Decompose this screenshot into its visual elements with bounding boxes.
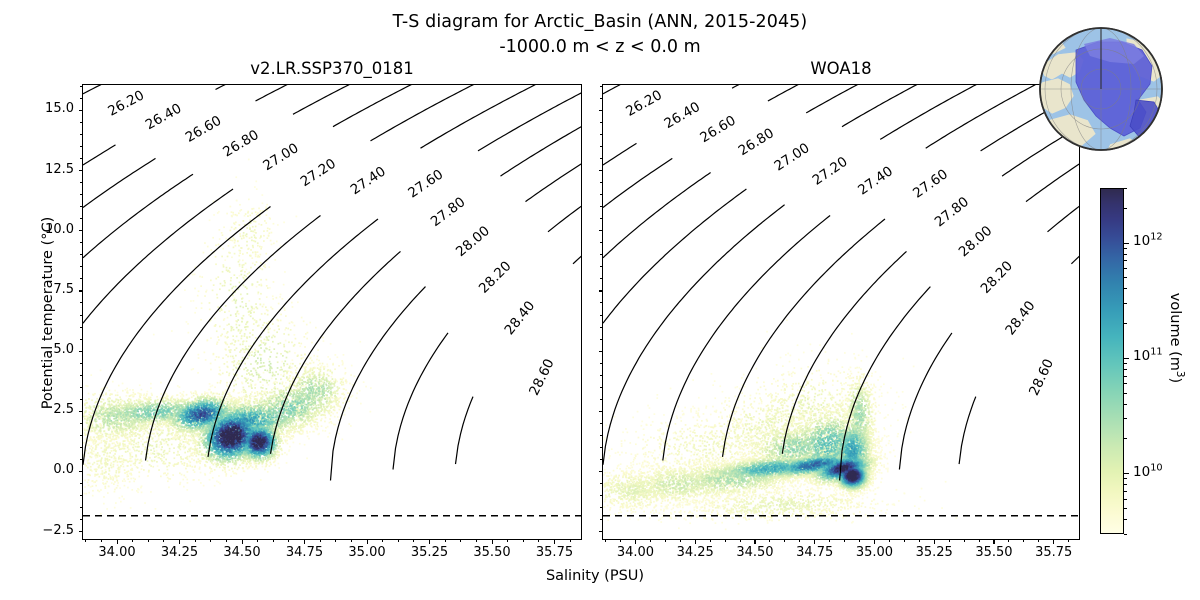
density-contour-line: [899, 205, 1080, 470]
y-tick-mark-minor: [80, 98, 82, 99]
scatter-point-group: [603, 319, 957, 530]
y-tick-mark-minor: [600, 315, 602, 316]
y-tick-mark-minor: [80, 507, 82, 508]
axes-observations: 26.2026.4026.6026.8027.0027.2027.4027.60…: [602, 84, 1080, 540]
density-contour-label: 27.80: [932, 194, 972, 230]
y-tick-mark: [79, 290, 83, 291]
x-tick-label: 34.25: [150, 545, 210, 560]
colorbar-tick-mark-minor: [1124, 268, 1127, 269]
x-tick-mark-minor: [1038, 540, 1039, 542]
x-tick-label: 34.75: [275, 545, 335, 560]
y-tick-mark-minor: [600, 507, 602, 508]
x-tick-mark-minor: [665, 540, 666, 542]
y-tick-mark-minor: [600, 254, 602, 255]
colorbar-tick-mark-minor: [1124, 248, 1127, 249]
y-tick-mark-minor: [80, 266, 82, 267]
scatter-plot-model: 26.2026.4026.6026.8027.0027.2027.4027.60…: [83, 85, 582, 540]
density-contour-label: 28.60: [526, 356, 557, 398]
colorbar-tick-mark-minor: [1124, 383, 1127, 384]
x-tick-mark-minor: [979, 540, 980, 542]
y-tick-mark-minor: [80, 399, 82, 400]
x-tick-mark-minor: [492, 540, 493, 542]
density-contour-label: 28.40: [1002, 298, 1038, 338]
y-tick-mark-minor: [600, 146, 602, 147]
x-tick-mark-minor: [554, 540, 555, 542]
x-tick-mark-minor: [605, 540, 606, 542]
density-contour-label-group: 26.2026.4026.6026.8027.0027.2027.4027.60…: [105, 87, 557, 398]
x-tick-mark-minor: [919, 540, 920, 542]
y-tick-mark: [79, 531, 83, 532]
y-tick-mark-minor: [80, 86, 82, 87]
y-tick-mark-minor: [80, 278, 82, 279]
y-tick-label: −2.5: [28, 523, 74, 538]
y-tick-mark: [79, 110, 83, 111]
y-tick-label: 15.0: [28, 101, 74, 116]
y-tick-mark-minor: [80, 435, 82, 436]
scatter-plot-observations: 26.2026.4026.6026.8027.0027.2027.4027.60…: [603, 85, 1080, 540]
colorbar-tick-mark-minor: [1124, 260, 1127, 261]
y-tick-mark: [599, 411, 603, 412]
x-tick-mark-minor: [650, 540, 651, 542]
y-tick-mark-minor: [80, 254, 82, 255]
y-tick-mark: [79, 411, 83, 412]
y-tick-mark: [79, 230, 83, 231]
x-tick-mark-minor: [799, 540, 800, 542]
y-tick-mark-minor: [600, 339, 602, 340]
y-tick-mark: [79, 170, 83, 171]
x-tick-mark-minor: [132, 540, 133, 542]
density-contour-label: 28.60: [1026, 356, 1057, 398]
x-tick-mark-minor: [1023, 540, 1024, 542]
colorbar-tick-mark-minor: [1124, 491, 1127, 492]
y-tick-mark-minor: [80, 134, 82, 135]
density-contour-label: 28.20: [978, 258, 1016, 297]
y-tick-mark-minor: [80, 302, 82, 303]
x-tick-mark-minor: [635, 540, 636, 542]
x-tick-label: 35.25: [904, 545, 964, 560]
y-tick-mark-minor: [600, 182, 602, 183]
y-tick-mark-minor: [80, 363, 82, 364]
y-tick-mark-minor: [80, 194, 82, 195]
y-tick-mark-minor: [600, 519, 602, 520]
y-tick-mark: [79, 351, 83, 352]
y-tick-mark-minor: [600, 218, 602, 219]
x-tick-mark-minor: [680, 540, 681, 542]
x-tick-mark-minor: [695, 540, 696, 542]
y-tick-mark-minor: [600, 86, 602, 87]
y-tick-mark-minor: [80, 459, 82, 460]
y-tick-mark: [599, 170, 603, 171]
y-tick-mark-minor: [80, 218, 82, 219]
colorbar-tick-mark-minor: [1124, 508, 1127, 509]
colorbar-tick-mark-minor: [1124, 363, 1127, 364]
y-tick-mark: [599, 110, 603, 111]
density-contour-line: [456, 255, 583, 464]
x-tick-label: 35.75: [1024, 545, 1084, 560]
density-contour-label: 28.00: [956, 223, 996, 261]
colorbar-gradient: [1100, 188, 1124, 534]
x-tick-mark-minor: [117, 540, 118, 542]
colorbar-label: volume (m3): [1167, 238, 1183, 438]
y-tick-mark-minor: [600, 98, 602, 99]
x-tick-mark-minor: [859, 540, 860, 542]
x-tick-mark-minor: [754, 540, 755, 542]
x-tick-mark-minor: [210, 540, 211, 542]
colorbar-tick-mark-minor: [1124, 303, 1127, 304]
x-tick-mark-minor: [320, 540, 321, 542]
y-tick-mark-minor: [600, 399, 602, 400]
colorbar-tick-mark: [1124, 358, 1129, 359]
x-tick-label: 34.00: [605, 545, 665, 560]
colorbar-tick-label: 1010: [1133, 464, 1163, 480]
y-tick-mark-minor: [80, 158, 82, 159]
density-contour-label: 26.60: [697, 113, 738, 147]
panel-title-observations: WOA18: [602, 58, 1080, 80]
y-tick-mark-minor: [600, 483, 602, 484]
x-tick-mark-minor: [148, 540, 149, 542]
y-tick-mark: [79, 471, 83, 472]
panel-title-model: v2.LR.SSP370_0181: [82, 58, 582, 80]
y-tick-mark-minor: [600, 206, 602, 207]
y-tick-mark-minor: [600, 363, 602, 364]
colorbar-label-text: volume (m3): [1167, 293, 1183, 383]
colorbar-tick-mark-minor: [1124, 499, 1127, 500]
y-tick-mark-minor: [600, 134, 602, 135]
figure-canvas: T-S diagram for Arctic_Basin (ANN, 2015-…: [0, 0, 1200, 600]
density-contour-label: 26.20: [105, 87, 147, 119]
y-tick-mark-minor: [600, 302, 602, 303]
colorbar-tick-mark-minor: [1124, 288, 1127, 289]
arctic-region-inset-map: [1018, 4, 1184, 170]
x-tick-mark-minor: [101, 540, 102, 542]
colorbar-tick-mark-minor: [1124, 404, 1127, 405]
x-tick-mark-minor: [242, 540, 243, 542]
x-tick-mark-minor: [769, 540, 770, 542]
y-tick-mark-minor: [600, 423, 602, 424]
x-tick-mark-minor: [740, 540, 741, 542]
x-tick-label: 35.25: [400, 545, 460, 560]
colorbar-tick-mark-minor: [1124, 188, 1127, 189]
y-tick-mark-minor: [80, 519, 82, 520]
x-tick-mark-minor: [949, 540, 950, 542]
x-tick-mark-minor: [257, 540, 258, 542]
y-tick-mark-minor: [80, 483, 82, 484]
y-tick-mark-minor: [600, 158, 602, 159]
x-tick-mark-minor: [814, 540, 815, 542]
density-contour-label: 27.00: [771, 140, 812, 174]
x-tick-mark-minor: [179, 540, 180, 542]
y-tick-mark-minor: [600, 194, 602, 195]
x-tick-mark-minor: [367, 540, 368, 542]
colorbar-tick-label: 1012: [1133, 233, 1163, 249]
x-tick-label: 35.00: [337, 545, 397, 560]
colorbar-tick-mark-minor: [1124, 277, 1127, 278]
y-tick-mark-minor: [600, 387, 602, 388]
x-tick-mark-minor: [85, 540, 86, 542]
colorbar-tick-mark-minor: [1124, 208, 1127, 209]
x-tick-mark-minor: [934, 540, 935, 542]
x-tick-mark-minor: [226, 540, 227, 542]
y-tick-mark-minor: [80, 375, 82, 376]
colorbar-tick-label: 1011: [1133, 348, 1163, 364]
scatter-point-group: [83, 159, 372, 520]
density-contour-label: 28.40: [501, 298, 538, 338]
x-tick-mark-minor: [889, 540, 890, 542]
x-tick-mark-minor: [904, 540, 905, 542]
x-tick-label: 35.50: [964, 545, 1024, 560]
y-tick-mark-minor: [80, 315, 82, 316]
colorbar-tick-mark-minor: [1124, 254, 1127, 255]
colorbar-tick-mark-minor: [1124, 323, 1127, 324]
y-tick-mark-minor: [600, 278, 602, 279]
y-tick-mark-minor: [600, 435, 602, 436]
x-tick-label: 34.75: [785, 545, 845, 560]
x-tick-mark-minor: [829, 540, 830, 542]
colorbar-tick-mark-minor: [1124, 484, 1127, 485]
y-tick-mark-minor: [600, 122, 602, 123]
y-tick-mark-minor: [600, 447, 602, 448]
density-contour-label: 27.60: [405, 166, 446, 201]
x-tick-mark-minor: [964, 540, 965, 542]
y-tick-mark-minor: [80, 146, 82, 147]
x-tick-mark-minor: [273, 540, 274, 542]
x-tick-mark-minor: [460, 540, 461, 542]
colorbar-tick-mark-minor: [1124, 376, 1127, 377]
y-tick-mark-minor: [600, 495, 602, 496]
x-tick-mark-minor: [1068, 540, 1069, 542]
y-tick-mark: [599, 471, 603, 472]
x-tick-label: 35.75: [525, 545, 585, 560]
x-tick-mark-minor: [335, 540, 336, 542]
x-tick-mark-minor: [570, 540, 571, 542]
y-tick-mark-minor: [80, 327, 82, 328]
x-axis-label: Salinity (PSU): [345, 568, 845, 584]
y-tick-mark-minor: [80, 447, 82, 448]
colorbar-tick-mark-minor: [1124, 438, 1127, 439]
density-contour-label: 28.00: [453, 223, 493, 260]
density-contour-label: 26.40: [662, 99, 703, 132]
x-tick-mark-minor: [429, 540, 430, 542]
x-tick-mark-minor: [413, 540, 414, 542]
x-tick-mark-minor: [993, 540, 994, 542]
x-tick-label: 34.50: [212, 545, 272, 560]
y-tick-mark-minor: [80, 182, 82, 183]
density-contour-label: 27.20: [298, 156, 339, 191]
colorbar-tick-mark-minor: [1124, 369, 1127, 370]
colorbar-tick-mark-minor: [1124, 418, 1127, 419]
x-tick-label: 34.00: [87, 545, 147, 560]
y-tick-mark-minor: [80, 387, 82, 388]
x-tick-mark-minor: [288, 540, 289, 542]
x-tick-mark-minor: [844, 540, 845, 542]
x-tick-mark-minor: [784, 540, 785, 542]
x-tick-mark-minor: [710, 540, 711, 542]
y-tick-mark-minor: [600, 242, 602, 243]
x-tick-label: 34.25: [665, 545, 725, 560]
density-contour-label: 26.80: [736, 125, 777, 159]
density-contour-label: 26.80: [220, 127, 261, 161]
x-tick-label: 35.50: [462, 545, 522, 560]
density-contour-label: 28.20: [476, 258, 515, 297]
x-tick-mark-minor: [398, 540, 399, 542]
density-contour-label: 27.00: [260, 140, 301, 174]
y-tick-mark: [599, 351, 603, 352]
x-tick-mark-minor: [304, 540, 305, 542]
density-contour-label: 26.40: [143, 100, 185, 133]
colorbar-tick-mark-minor: [1124, 393, 1127, 394]
x-tick-mark-minor: [507, 540, 508, 542]
axes-model: 26.2026.4026.6026.8027.0027.2027.4027.60…: [82, 84, 582, 540]
colorbar-tick-mark-minor: [1124, 478, 1127, 479]
y-tick-label: 0.0: [28, 462, 74, 477]
x-tick-mark-minor: [620, 540, 621, 542]
density-contour-label: 26.60: [183, 113, 224, 146]
y-tick-mark: [599, 230, 603, 231]
x-tick-mark-minor: [351, 540, 352, 542]
y-tick-mark-minor: [80, 242, 82, 243]
density-contour-label-group: 26.2026.4026.6026.8027.0027.2027.4027.60…: [623, 87, 1057, 398]
density-contour-label: 27.40: [348, 163, 389, 198]
y-tick-mark-minor: [600, 266, 602, 267]
y-tick-mark-minor: [600, 327, 602, 328]
y-tick-mark-minor: [80, 423, 82, 424]
y-tick-mark-minor: [80, 495, 82, 496]
x-tick-mark-minor: [382, 540, 383, 542]
y-tick-mark-minor: [600, 375, 602, 376]
density-contour-label: 26.20: [623, 87, 665, 120]
x-tick-label: 34.50: [725, 545, 785, 560]
colorbar-tick-mark-minor: [1124, 519, 1127, 520]
x-tick-mark-minor: [725, 540, 726, 542]
density-contour-label: 27.60: [910, 166, 951, 201]
x-tick-label: 35.00: [844, 545, 904, 560]
x-tick-mark-minor: [163, 540, 164, 542]
colorbar-tick-mark: [1124, 473, 1129, 474]
density-contour-line: [393, 205, 582, 470]
x-tick-mark-minor: [538, 540, 539, 542]
x-tick-mark-minor: [523, 540, 524, 542]
y-tick-mark-minor: [80, 339, 82, 340]
y-tick-mark-minor: [80, 206, 82, 207]
x-tick-mark-minor: [195, 540, 196, 542]
colorbar-tick-mark-minor: [1124, 534, 1127, 535]
density-contour-line: [208, 92, 582, 457]
y-tick-mark: [599, 531, 603, 532]
y-axis-label: Potential temperature (°C): [40, 163, 56, 463]
density-contour-label: 27.80: [428, 194, 469, 230]
y-tick-mark: [599, 290, 603, 291]
x-tick-mark-minor: [1008, 540, 1009, 542]
y-tick-mark-minor: [600, 459, 602, 460]
y-tick-mark-minor: [80, 122, 82, 123]
colorbar-tick-mark: [1124, 243, 1129, 244]
x-tick-mark-minor: [874, 540, 875, 542]
x-tick-mark-minor: [445, 540, 446, 542]
x-tick-mark-minor: [476, 540, 477, 542]
density-contour-label: 27.20: [810, 154, 851, 189]
density-contour-label: 27.40: [855, 163, 896, 198]
x-tick-mark-minor: [1053, 540, 1054, 542]
